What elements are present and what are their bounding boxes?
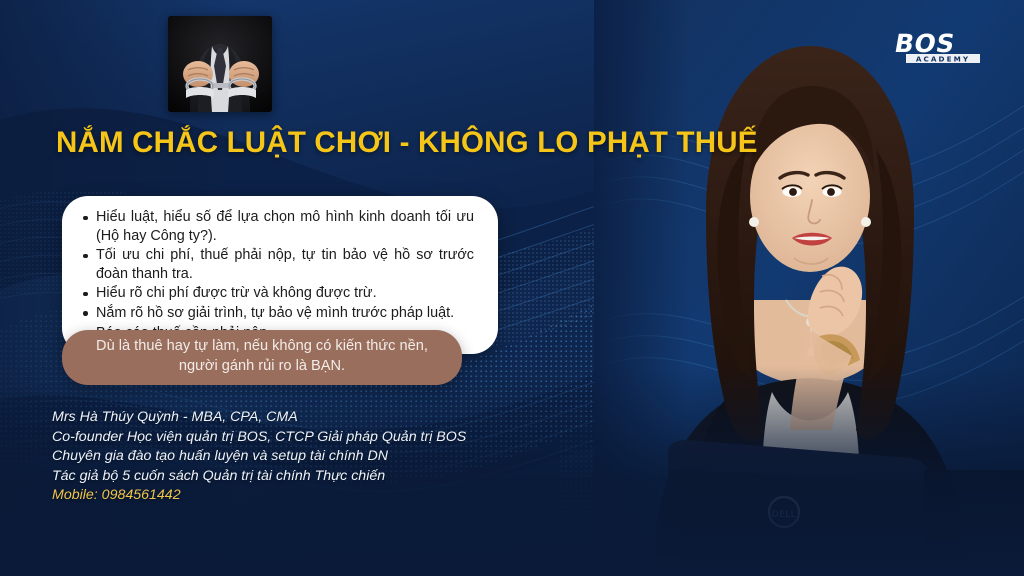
bos-academy-logo: BOS ACADEMY — [876, 26, 996, 70]
list-item: Nắm rõ hồ sơ giải trình, tự bảo vệ mình … — [96, 304, 476, 323]
quote-line-2: người gánh rủi ro là BẠN. — [179, 358, 345, 374]
contact-mobile[interactable]: Mobile: 0984561442 — [52, 486, 466, 506]
list-item: Hiểu rõ chi phí được trừ và không được t… — [96, 284, 476, 303]
speaker-portrait: DELL — [594, 0, 1024, 576]
credential-role: Co-founder Học viện quản trị BOS, CTCP G… — [52, 428, 466, 448]
handcuffed-businessman-photo — [168, 16, 272, 112]
key-points-list: Hiểu luật, hiểu số để lựa chọn mô hình k… — [76, 208, 476, 342]
credential-expertise: Chuyên gia đào tạo huấn luyện và setup t… — [52, 447, 466, 467]
speaker-credentials: Mrs Hà Thúy Quỳnh - MBA, CPA, CMA Co-fou… — [52, 408, 466, 506]
list-item: Tối ưu chi phí, thuế phải nộp, tự tin bả… — [96, 246, 476, 283]
slide-canvas: DELL — [0, 0, 1024, 576]
credential-name: Mrs Hà Thúy Quỳnh - MBA, CPA, CMA — [52, 408, 466, 428]
page-title: NẮM CHẮC LUẬT CHƠI - KHÔNG LO PHẠT THUẾ — [56, 126, 758, 160]
quote-line-1: Dù là thuê hay tự làm, nếu không có kiến… — [96, 338, 428, 354]
logo-sub-text: ACADEMY — [916, 55, 970, 64]
highlight-quote: Dù là thuê hay tự làm, nếu không có kiến… — [62, 330, 462, 385]
credential-author: Tác giả bộ 5 cuốn sách Quản trị tài chín… — [52, 467, 466, 487]
list-item: Hiểu luật, hiểu số để lựa chọn mô hình k… — [96, 208, 476, 245]
